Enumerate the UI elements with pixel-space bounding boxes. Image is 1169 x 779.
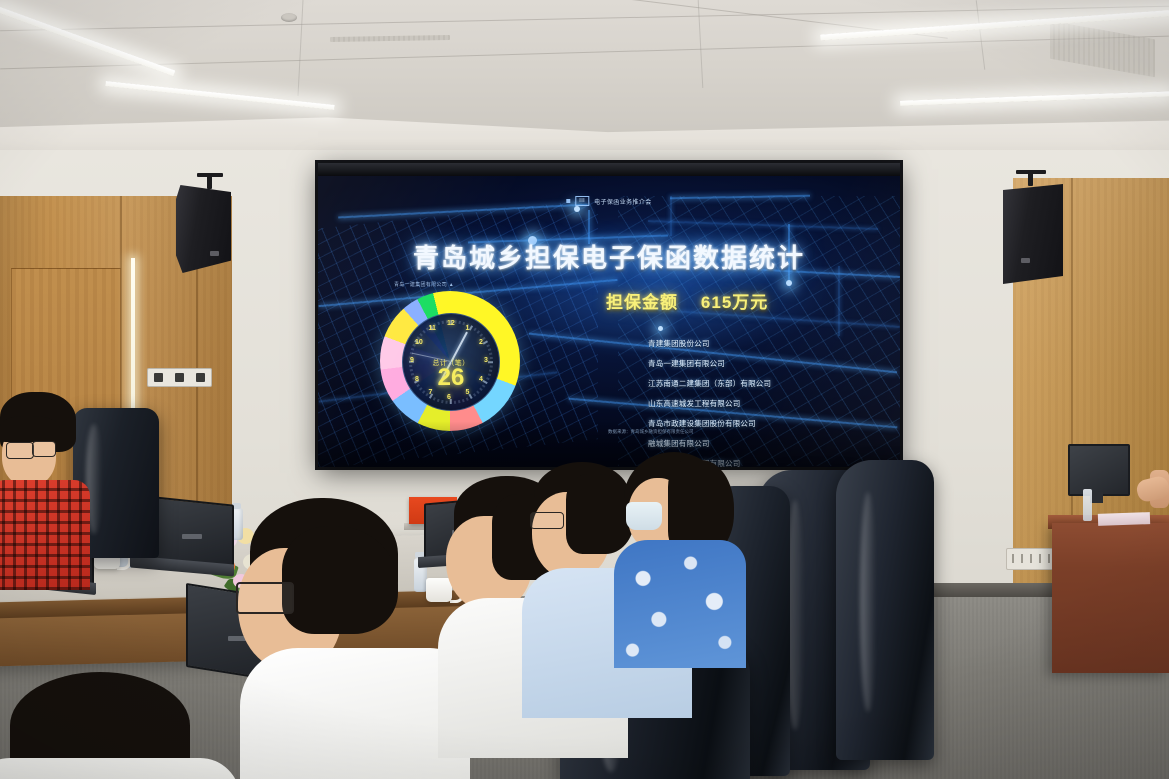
power-outlet-holes <box>1012 554 1052 563</box>
clock-tick <box>422 390 425 393</box>
clock-number: 5 <box>466 389 470 396</box>
clock-tick <box>462 322 464 325</box>
clock-tick <box>454 401 456 404</box>
clock-tick <box>419 388 422 391</box>
company-list-item: 山东高速城发工程有限公司 <box>648 398 900 409</box>
clock-tick <box>473 328 476 331</box>
clock-tick <box>469 394 473 399</box>
face-mask <box>626 502 662 530</box>
clock-number: 10 <box>415 339 423 346</box>
eyeglasses <box>32 441 56 457</box>
ceiling-speaker-left <box>176 185 231 273</box>
clock-tick <box>437 322 439 325</box>
donut-inner-clockface: 121234567891011 总计（笔） 26 <box>402 313 500 411</box>
clock-tick <box>473 393 476 396</box>
donut-chart: 121234567891011 总计（笔） 26 <box>380 291 520 431</box>
clock-tick <box>486 377 489 380</box>
conference-room-screenshot: III 电子保函业务推介会 青岛城乡担保电子保函数据统计 青岛一建集团有限公司 … <box>0 0 1169 779</box>
smoke-detector-icon <box>281 13 297 22</box>
clock-tick <box>486 344 489 347</box>
eyeglasses <box>530 512 564 529</box>
torso <box>240 648 470 779</box>
hair-fringe <box>0 416 60 442</box>
clock-number: 3 <box>484 357 488 364</box>
header-badge-text: 电子保函业务推介会 <box>594 197 652 206</box>
glow-node <box>658 326 663 331</box>
clock-tick <box>462 399 464 402</box>
header-badge-box: III <box>575 196 589 206</box>
eyeglasses <box>236 582 294 614</box>
clock-tick <box>411 373 414 375</box>
eyeglasses <box>6 442 34 459</box>
clock-tick <box>433 397 436 400</box>
clock-tick <box>490 365 493 367</box>
water-bottle <box>1083 489 1092 521</box>
clock-number: 6 <box>447 394 451 401</box>
clock-tick <box>482 384 485 387</box>
clock-tick <box>483 380 488 384</box>
clock-tick <box>446 401 448 404</box>
clock-tick <box>489 353 492 355</box>
glow-node <box>574 206 580 212</box>
switch-key[interactable] <box>175 373 184 382</box>
screen-content: III 电子保函业务推介会 青岛城乡担保电子保函数据统计 青岛一建集团有限公司 … <box>318 176 900 467</box>
slide-header-badge: III 电子保函业务推介会 <box>566 196 651 206</box>
ceiling-speaker-right <box>1003 184 1063 284</box>
guarantee-amount-label: 担保金额 <box>606 293 678 312</box>
clock-tick <box>489 369 492 371</box>
slide-title: 青岛城乡担保电子保函数据统计 <box>413 238 805 275</box>
clock-number: 2 <box>479 339 483 346</box>
clock-tick <box>490 357 493 359</box>
clock-number: 8 <box>415 376 419 383</box>
glow-node <box>786 280 792 286</box>
header-square-icon <box>566 199 570 203</box>
led-display-screen[interactable]: III 电子保函业务推介会 青岛城乡担保电子保函数据统计 青岛一建集团有限公司 … <box>318 163 900 467</box>
office-chair <box>836 460 934 760</box>
clock-tick <box>417 384 420 387</box>
switch-key[interactable] <box>154 373 163 382</box>
guarantee-amount-row: 担保金额 615万元 <box>606 288 768 313</box>
clock-tick <box>419 333 422 336</box>
ceiling-vent <box>1050 21 1155 78</box>
company-list-item: 青岛市政建设集团股份有限公司 <box>648 418 900 429</box>
clock-tick <box>437 399 439 402</box>
clock-tick <box>488 373 491 375</box>
clock-number: 11 <box>429 325 436 332</box>
company-list-item: 青岛一建集团有限公司 <box>648 358 900 369</box>
speaker-pole-left <box>207 175 212 189</box>
coffee-mug <box>426 578 452 602</box>
clock-tick <box>458 321 460 324</box>
company-list-item: 江苏南通二建集团（东部）有限公司 <box>648 378 900 389</box>
company-list: 青建集团股份公司青岛一建集团有限公司江苏南通二建集团（东部）有限公司山东高速城发… <box>608 338 900 467</box>
clock-tick <box>409 365 412 367</box>
torso <box>614 540 746 668</box>
clock-number: 12 <box>447 320 455 327</box>
ceiling-vent <box>330 35 450 42</box>
clock-tick <box>442 321 444 324</box>
clock-tick <box>479 333 482 336</box>
clock-tick <box>479 388 482 391</box>
clock-tick <box>466 397 469 400</box>
clock-tick <box>488 348 491 350</box>
clock-tick <box>477 330 480 333</box>
switch-key[interactable] <box>196 373 205 382</box>
clock-number: 9 <box>410 357 414 364</box>
guarantee-amount-value: 615万元 <box>701 293 768 312</box>
podium <box>1052 523 1169 673</box>
company-list-item: 融城集团有限公司 <box>648 438 900 449</box>
clock-tick <box>477 390 480 393</box>
clock-tick <box>411 348 414 350</box>
company-list-item: 青建集团股份公司 <box>648 338 900 349</box>
clock-tick <box>410 369 413 371</box>
podium-monitor[interactable] <box>1068 444 1130 496</box>
clock-tick <box>442 400 444 403</box>
donut-center-value: 26 <box>438 366 465 390</box>
torso <box>0 480 90 590</box>
clock-number: 4 <box>479 376 483 383</box>
torso <box>0 758 240 779</box>
clock-number: 7 <box>429 389 433 396</box>
donut-chart-caption: 青岛一建集团有限公司 ▲ <box>394 281 454 288</box>
slide-footer-note: 数据来源：青岛城乡融资担保有限责任公司 <box>608 429 694 435</box>
speaker-pole-right <box>1028 172 1033 186</box>
clock-tick <box>483 340 488 344</box>
clock-tick <box>422 330 425 333</box>
paper-documents <box>1098 512 1150 526</box>
clock-tick <box>488 361 493 363</box>
light-switch-plate[interactable] <box>147 368 212 387</box>
screen-top-bezel <box>318 163 900 176</box>
clock-tick <box>458 400 460 403</box>
